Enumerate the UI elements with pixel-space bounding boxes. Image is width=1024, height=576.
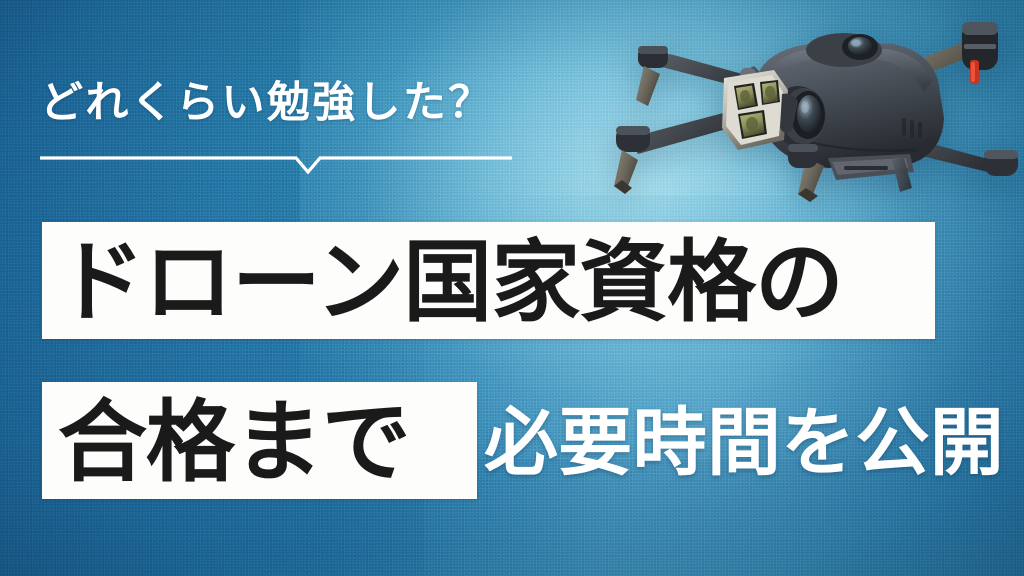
headline-line-main: ドローン国家資格の bbox=[56, 238, 843, 327]
kicker-text: どれくらい勉強した？ bbox=[40, 82, 494, 125]
headline-line-sub: 合格まで bbox=[58, 398, 410, 487]
divider-with-notch-icon bbox=[40, 148, 512, 176]
thumbnail-canvas: どれくらい勉強した？ ドローン国家資格の 合格まで 必要時間を公開 bbox=[0, 0, 1024, 576]
headline-block: どれくらい勉強した？ ドローン国家資格の 合格まで 必要時間を公開 bbox=[0, 0, 1024, 576]
headline-line-tail: 必要時間を公開 bbox=[484, 406, 1004, 480]
